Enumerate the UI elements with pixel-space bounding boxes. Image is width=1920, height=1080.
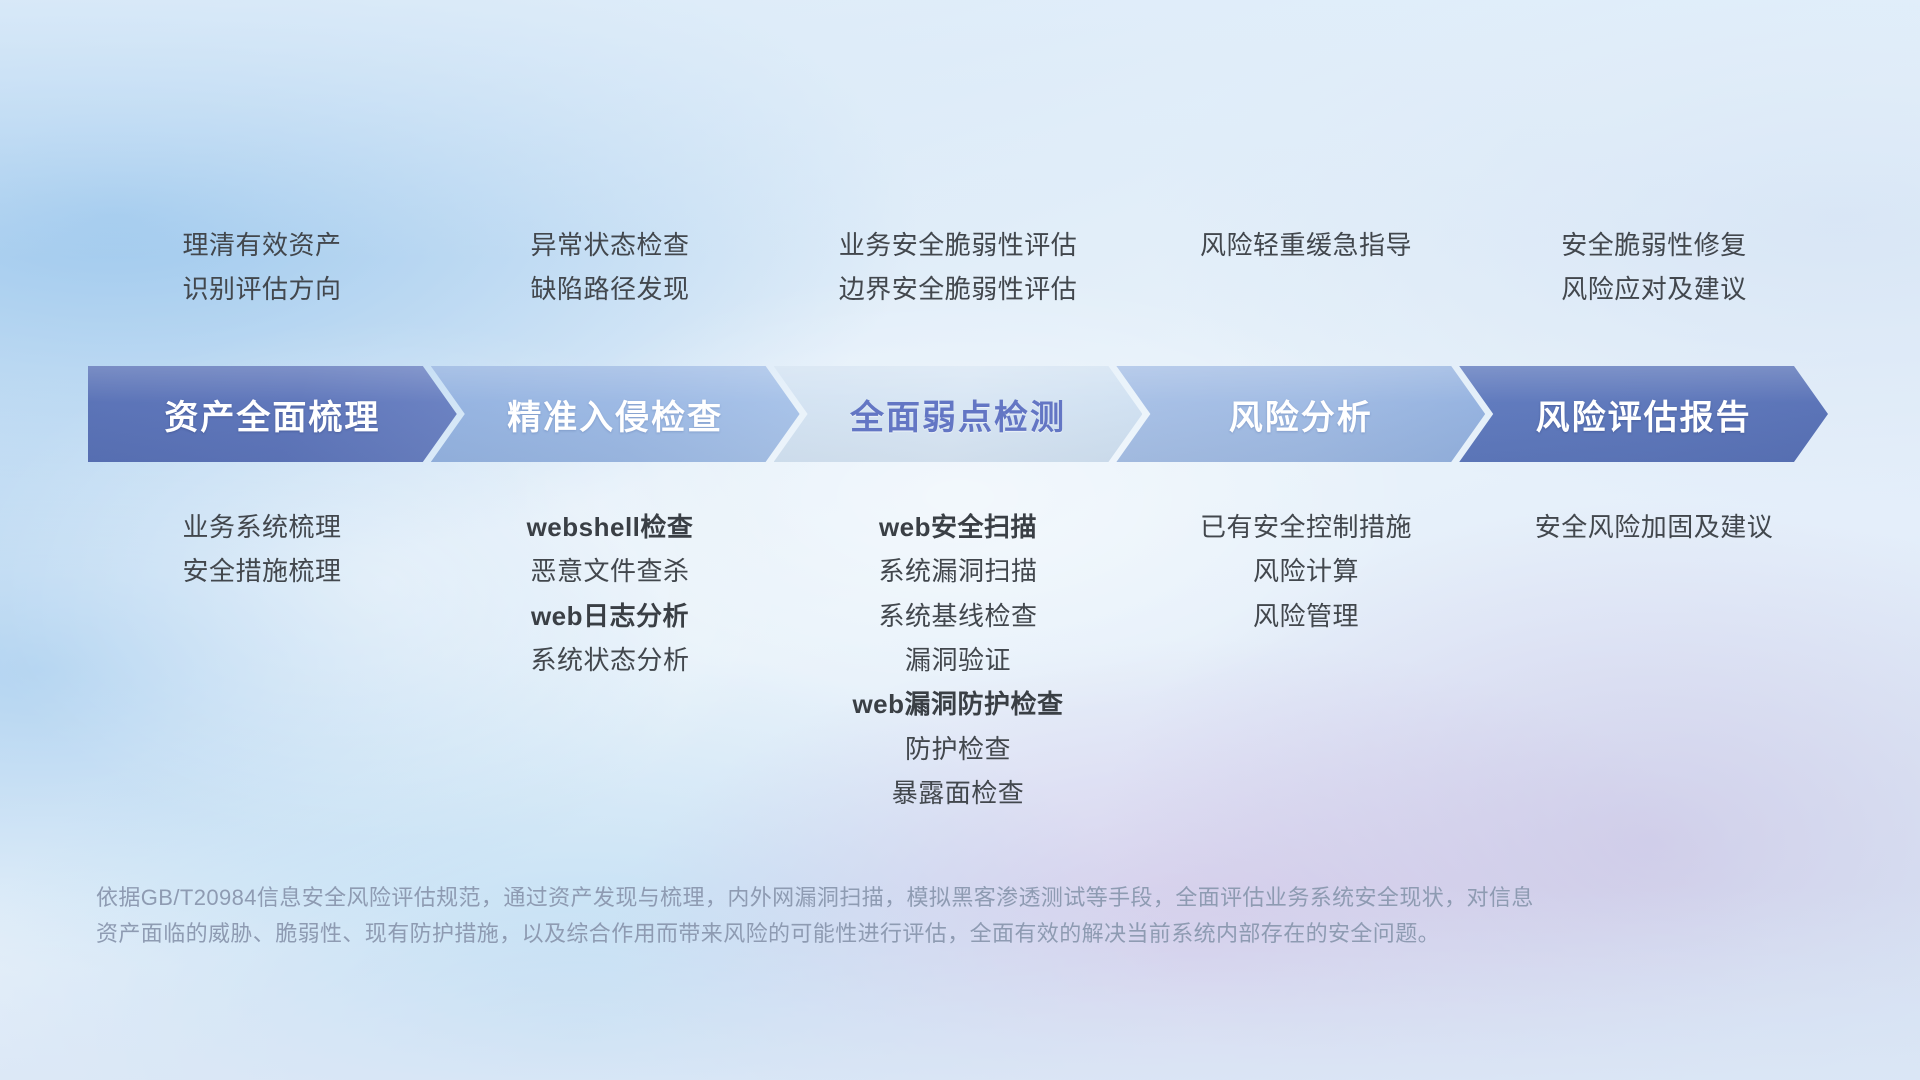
- stage-activities-weakness-detection: web安全扫描 系统漏洞扫描 系统基线检查 漏洞验证 web漏洞防护检查 防护检…: [784, 510, 1132, 812]
- outcome-item: 安全脆弱性修复: [1561, 228, 1747, 263]
- stage-chevron-intrusion-check[interactable]: 精准入侵检查: [431, 366, 800, 462]
- stage-chevron-label: 精准入侵检查: [507, 390, 723, 439]
- outcome-item: 业务安全脆弱性评估: [839, 228, 1078, 263]
- stage-outcomes-risk-analysis: 风险轻重缓急指导: [1132, 228, 1480, 308]
- stage-outcomes-intrusion-check: 异常状态检查 缺陷路径发现: [436, 228, 784, 308]
- stage-outcomes-assessment-report: 安全脆弱性修复 风险应对及建议: [1480, 228, 1828, 308]
- stage-activities-intrusion-check: webshell检查 恶意文件查杀 web日志分析 系统状态分析: [436, 510, 784, 812]
- process-chevron-banner: 资产全面梳理 精准入侵检查 全面弱点检测 风险分析 风险评估报告: [88, 366, 1828, 462]
- activity-item: web漏洞防护检查: [852, 687, 1063, 722]
- footer-line-2: 资产面临的威胁、脆弱性、现有防护措施，以及综合作用而带来风险的可能性进行评估，全…: [96, 916, 1616, 952]
- activity-item: 系统状态分析: [530, 643, 689, 678]
- stage-outcomes-weakness-detection: 业务安全脆弱性评估 边界安全脆弱性评估: [784, 228, 1132, 308]
- outcome-item: 风险轻重缓急指导: [1200, 228, 1412, 263]
- stage-chevron-label: 风险评估报告: [1536, 390, 1752, 439]
- activity-item: 防护检查: [905, 732, 1011, 767]
- outcome-item: 缺陷路径发现: [530, 272, 689, 307]
- activity-item: 暴露面检查: [892, 776, 1025, 811]
- stage-activities-row: 业务系统梳理 安全措施梳理 webshell检查 恶意文件查杀 web日志分析 …: [88, 510, 1828, 812]
- activity-item: 系统基线检查: [878, 599, 1037, 634]
- stage-chevron-asset-inventory[interactable]: 资产全面梳理: [88, 366, 457, 462]
- stage-chevron-weakness-detection[interactable]: 全面弱点检测: [774, 366, 1143, 462]
- activity-item: 安全措施梳理: [182, 554, 341, 589]
- activity-item: 风险计算: [1253, 554, 1359, 589]
- activity-item: 漏洞验证: [905, 643, 1011, 678]
- footer-description: 依据GB/T20984信息安全风险评估规范，通过资产发现与梳理，内外网漏洞扫描，…: [96, 880, 1616, 951]
- activity-item: 系统漏洞扫描: [878, 554, 1037, 589]
- stage-chevron-assessment-report[interactable]: 风险评估报告: [1459, 366, 1828, 462]
- stage-activities-risk-analysis: 已有安全控制措施 风险计算 风险管理: [1132, 510, 1480, 812]
- stage-chevron-label: 资产全面梳理: [164, 390, 380, 439]
- activity-item: web安全扫描: [879, 510, 1037, 545]
- outcome-item: 理清有效资产: [182, 228, 341, 263]
- outcome-item: 风险应对及建议: [1561, 272, 1747, 307]
- footer-line-1: 依据GB/T20984信息安全风险评估规范，通过资产发现与梳理，内外网漏洞扫描，…: [96, 880, 1616, 916]
- stage-activities-assessment-report: 安全风险加固及建议: [1480, 510, 1828, 812]
- stage-chevron-risk-analysis[interactable]: 风险分析: [1116, 366, 1485, 462]
- outcome-item: 识别评估方向: [182, 272, 341, 307]
- stage-outcomes-asset-inventory: 理清有效资产 识别评估方向: [88, 228, 436, 308]
- activity-item: 已有安全控制措施: [1200, 510, 1412, 545]
- activity-item: 恶意文件查杀: [530, 554, 689, 589]
- activity-item: 安全风险加固及建议: [1535, 510, 1774, 545]
- activity-item: webshell检查: [527, 510, 694, 545]
- slide-canvas: 理清有效资产 识别评估方向 异常状态检查 缺陷路径发现 业务安全脆弱性评估 边界…: [0, 0, 1920, 1080]
- activity-item: 业务系统梳理: [182, 510, 341, 545]
- activity-item: 风险管理: [1253, 599, 1359, 634]
- outcome-item: 边界安全脆弱性评估: [839, 272, 1078, 307]
- outcome-item: 异常状态检查: [530, 228, 689, 263]
- stage-outcomes-row: 理清有效资产 识别评估方向 异常状态检查 缺陷路径发现 业务安全脆弱性评估 边界…: [88, 228, 1828, 308]
- activity-item: web日志分析: [531, 599, 689, 634]
- stage-chevron-label: 全面弱点检测: [850, 390, 1066, 439]
- stage-activities-asset-inventory: 业务系统梳理 安全措施梳理: [88, 510, 436, 812]
- stage-chevron-label: 风险分析: [1229, 390, 1373, 439]
